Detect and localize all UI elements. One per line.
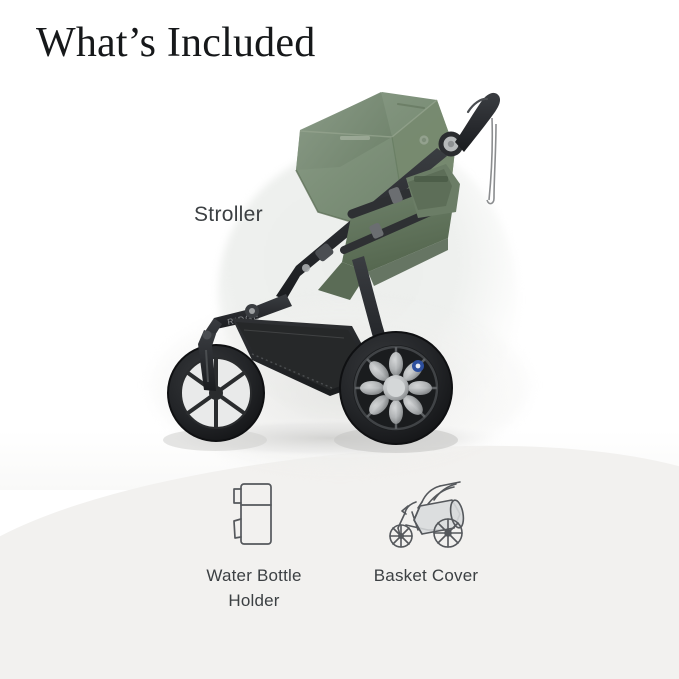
stroller-hero-image: RIDGE	[0, 0, 679, 470]
accessory-label-line1: Water Bottle	[178, 564, 330, 589]
water-bottle-holder-icon	[178, 478, 330, 550]
accessory-label-line1: Basket Cover	[350, 564, 502, 589]
accessories-row: Water Bottle Holder	[0, 478, 679, 638]
handlebar	[455, 93, 500, 204]
accessory-label: Water Bottle Holder	[178, 564, 330, 613]
basket-cover-icon	[350, 478, 502, 550]
accessory-label: Basket Cover	[350, 564, 502, 589]
callout-label-stroller: Stroller	[194, 203, 263, 227]
accessory-basket-cover: Basket Cover	[350, 478, 502, 589]
accessory-water-bottle-holder: Water Bottle Holder	[178, 478, 330, 613]
product-included-graphic: What’s Included	[0, 0, 679, 679]
rear-wheel	[340, 332, 452, 444]
accessory-label-line2: Holder	[178, 589, 330, 614]
